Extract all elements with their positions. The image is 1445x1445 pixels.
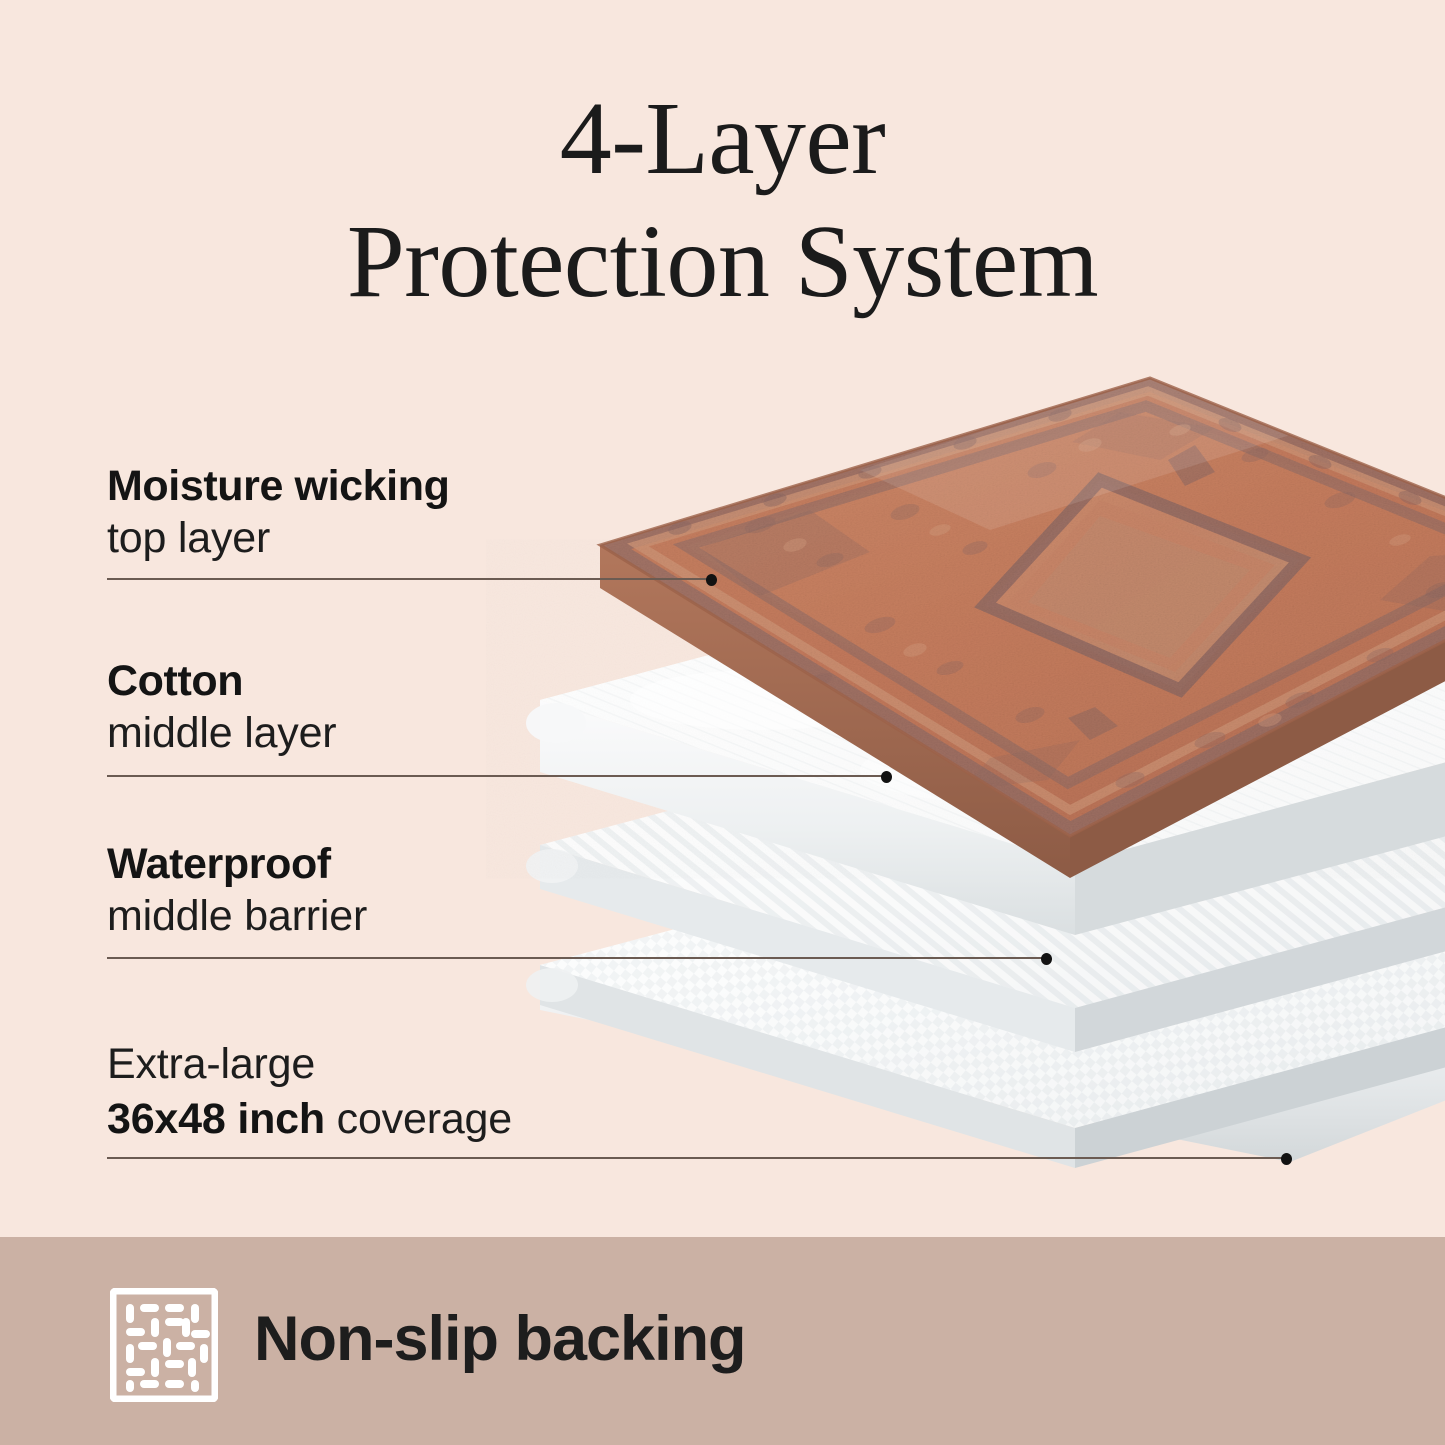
layer-heading: Moisture wicking [107,462,449,510]
title-line-1: 4-Layer [0,78,1445,201]
size-note: Extra-large 36x48 inch coverage [107,1036,512,1145]
layer-label-top: Moisture wicking top layer [107,462,449,565]
non-slip-grid-icon [110,1288,218,1402]
infographic-canvas: 4-Layer Protection System [0,0,1445,1445]
leader-dot [1281,1153,1292,1165]
size-note-line-1: Extra-large [107,1039,512,1091]
leader-line-waterproof [107,957,1047,959]
layer-subtext: middle barrier [107,891,367,943]
leader-line-size [107,1157,1287,1159]
leader-dot [706,574,717,586]
layer-2-cotton-shape [526,555,1445,935]
leader-dot [1041,953,1052,965]
page-title: 4-Layer Protection System [0,78,1445,323]
layer-subtext: top layer [107,513,449,565]
layer-heading: Waterproof [107,840,367,888]
layer-3-waterproof-shape [526,700,1445,1052]
title-line-2: Protection System [0,201,1445,324]
size-note-line-2: 36x48 inch coverage [107,1094,512,1146]
size-note-tail: coverage [325,1095,512,1143]
layer-heading: Cotton [107,657,336,705]
leader-dot [881,771,892,783]
leader-line-cotton [107,775,887,777]
size-note-bold: 36x48 inch [107,1095,325,1143]
layer-1-rug-shape [600,378,1445,878]
layer-label-waterproof: Waterproof middle barrier [107,840,367,943]
leader-line-top [107,578,712,580]
layer-subtext: middle layer [107,708,336,760]
layer-4-nonslip-shape [526,820,1445,1168]
layer-label-cotton: Cotton middle layer [107,657,336,760]
footer-label: Non-slip backing [254,1303,746,1375]
